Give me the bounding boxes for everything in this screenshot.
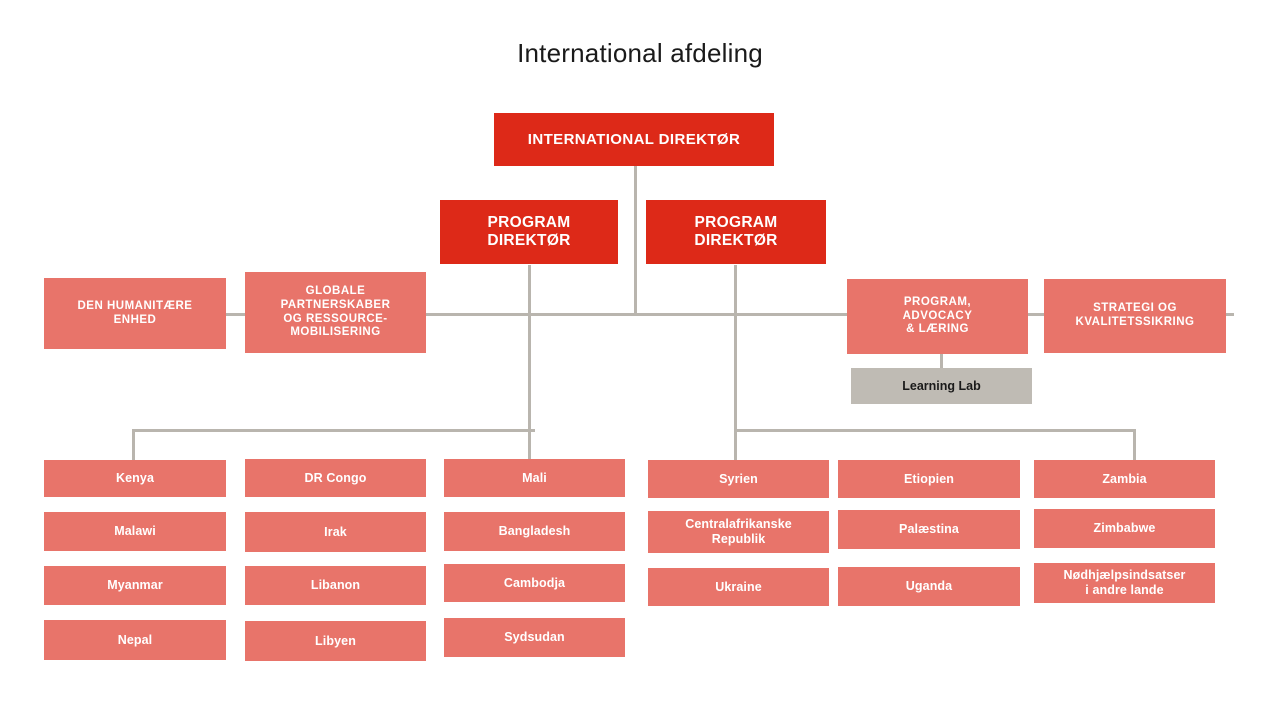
box-country-nepal[interactable]: Nepal: [44, 620, 226, 660]
box-country-irak[interactable]: Irak: [245, 512, 426, 552]
box-label: Bangladesh: [499, 524, 571, 539]
connector-progdir-right-down: [734, 265, 737, 465]
box-unit-program-advocacy[interactable]: PROGRAM, ADVOCACY & LÆRING: [847, 279, 1028, 354]
box-label: PROGRAM, ADVOCACY & LÆRING: [903, 296, 973, 337]
box-label: INTERNATIONAL DIREKTØR: [528, 131, 740, 149]
box-label: Uganda: [906, 579, 952, 594]
box-country-sydsudan[interactable]: Sydsudan: [444, 618, 625, 657]
box-country-centralafrikanske-republik[interactable]: Centralafrikanske Republik: [648, 511, 829, 553]
box-label: Etiopien: [904, 472, 954, 487]
box-country-palaestina[interactable]: Palæstina: [838, 510, 1020, 549]
box-label: Myanmar: [107, 578, 163, 593]
box-label: PROGRAM DIREKTØR: [487, 214, 570, 251]
box-label: Ukraine: [715, 580, 762, 595]
box-label: Zimbabwe: [1094, 521, 1156, 536]
box-unit-strategi[interactable]: STRATEGI OG KVALITETSSIKRING: [1044, 279, 1226, 353]
box-unit-globale-partnerskaber[interactable]: GLOBALE PARTNERSKABER OG RESSOURCE- MOBI…: [245, 272, 426, 353]
box-label: Cambodja: [504, 576, 565, 591]
box-program-director-2[interactable]: PROGRAM DIREKTØR: [646, 200, 826, 264]
box-label: DEN HUMANITÆRE ENHED: [78, 300, 193, 327]
box-country-myanmar[interactable]: Myanmar: [44, 566, 226, 605]
box-label: Libyen: [315, 634, 356, 649]
box-label: Centralafrikanske Republik: [685, 517, 792, 547]
box-country-libyen[interactable]: Libyen: [245, 621, 426, 661]
box-country-ukraine[interactable]: Ukraine: [648, 568, 829, 606]
box-label: Nødhjælpsindsatser i andre lande: [1064, 568, 1186, 598]
box-country-cambodja[interactable]: Cambodja: [444, 564, 625, 602]
box-country-mali[interactable]: Mali: [444, 459, 625, 497]
box-label: DR Congo: [305, 471, 367, 486]
box-label: PROGRAM DIREKTØR: [694, 214, 777, 251]
box-label: Zambia: [1102, 472, 1146, 487]
box-label: Syrien: [719, 472, 758, 487]
box-label: Learning Lab: [902, 379, 980, 394]
box-country-zambia[interactable]: Zambia: [1034, 460, 1215, 498]
page-title: International afdeling: [0, 38, 1280, 69]
org-chart-canvas: International afdeling INTERNATIONAL DIR…: [0, 0, 1280, 720]
box-label: Palæstina: [899, 522, 959, 537]
box-country-syrien[interactable]: Syrien: [648, 460, 829, 498]
connector-left-col1-drop: [132, 429, 135, 460]
box-country-dr-congo[interactable]: DR Congo: [245, 459, 426, 497]
box-unit-humanitaer[interactable]: DEN HUMANITÆRE ENHED: [44, 278, 226, 349]
box-country-uganda[interactable]: Uganda: [838, 567, 1020, 606]
box-label: Malawi: [114, 524, 156, 539]
box-label: GLOBALE PARTNERSKABER OG RESSOURCE- MOBI…: [281, 285, 391, 339]
box-international-director[interactable]: INTERNATIONAL DIREKTØR: [494, 113, 774, 166]
connector-left-country-bus: [132, 429, 535, 432]
box-country-etiopien[interactable]: Etiopien: [838, 460, 1020, 498]
box-label: Irak: [324, 525, 347, 540]
box-country-libanon[interactable]: Libanon: [245, 566, 426, 605]
box-country-malawi[interactable]: Malawi: [44, 512, 226, 551]
box-label: Libanon: [311, 578, 360, 593]
connector-stub-unit-3-4: [1026, 313, 1046, 316]
box-country-zimbabwe[interactable]: Zimbabwe: [1034, 509, 1215, 548]
box-label: Nepal: [118, 633, 153, 648]
box-learning-lab[interactable]: Learning Lab: [851, 368, 1032, 404]
connector-right-col6-drop: [1133, 429, 1136, 460]
box-country-noedhjaelpsindsatser[interactable]: Nødhjælpsindsatser i andre lande: [1034, 563, 1215, 603]
box-label: Kenya: [116, 471, 154, 486]
connector-advocacy-to-lab: [940, 354, 943, 368]
box-country-kenya[interactable]: Kenya: [44, 460, 226, 497]
box-label: STRATEGI OG KVALITETSSIKRING: [1076, 302, 1195, 329]
box-label: Sydsudan: [504, 630, 565, 645]
box-label: Mali: [522, 471, 547, 486]
box-program-director-1[interactable]: PROGRAM DIREKTØR: [440, 200, 618, 264]
connector-right-country-bus: [734, 429, 1136, 432]
connector-director-down: [634, 166, 637, 315]
box-country-bangladesh[interactable]: Bangladesh: [444, 512, 625, 551]
connector-progdir-left-down: [528, 265, 531, 465]
connector-stub-unit-1-2: [226, 313, 246, 316]
